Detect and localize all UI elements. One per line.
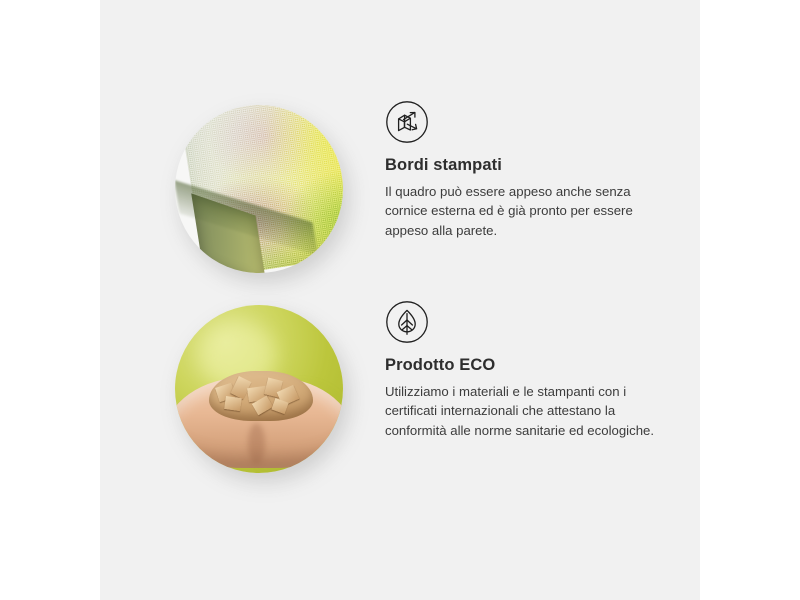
hand-separation xyxy=(248,423,265,465)
feature-description: Il quadro può essere appeso anche senza … xyxy=(385,182,675,240)
feature-block-printed-edges: Bordi stampati Il quadro può essere appe… xyxy=(100,100,700,295)
feature-description: Utilizziamo i materiali e le stampanti c… xyxy=(385,382,675,440)
feature-title: Prodotto ECO xyxy=(385,356,675,375)
canvas-corner-photo xyxy=(175,105,343,273)
wood-chips-pile xyxy=(209,371,313,421)
content-panel: Bordi stampati Il quadro può essere appe… xyxy=(100,0,700,600)
hands-wood-chips-photo xyxy=(175,305,343,473)
feature-title: Bordi stampati xyxy=(385,156,675,175)
product-feature-page: Bordi stampati Il quadro può essere appe… xyxy=(0,0,800,600)
feature-copy-eco-product: Prodotto ECO Utilizziamo i materiali e l… xyxy=(385,300,675,440)
feature-copy-printed-edges: Bordi stampati Il quadro può essere appe… xyxy=(385,100,675,240)
feature-block-eco-product: Prodotto ECO Utilizziamo i materiali e l… xyxy=(100,300,700,500)
printed-edges-icon xyxy=(385,100,429,144)
wood-chip xyxy=(224,396,241,411)
leaf-icon xyxy=(385,300,429,344)
